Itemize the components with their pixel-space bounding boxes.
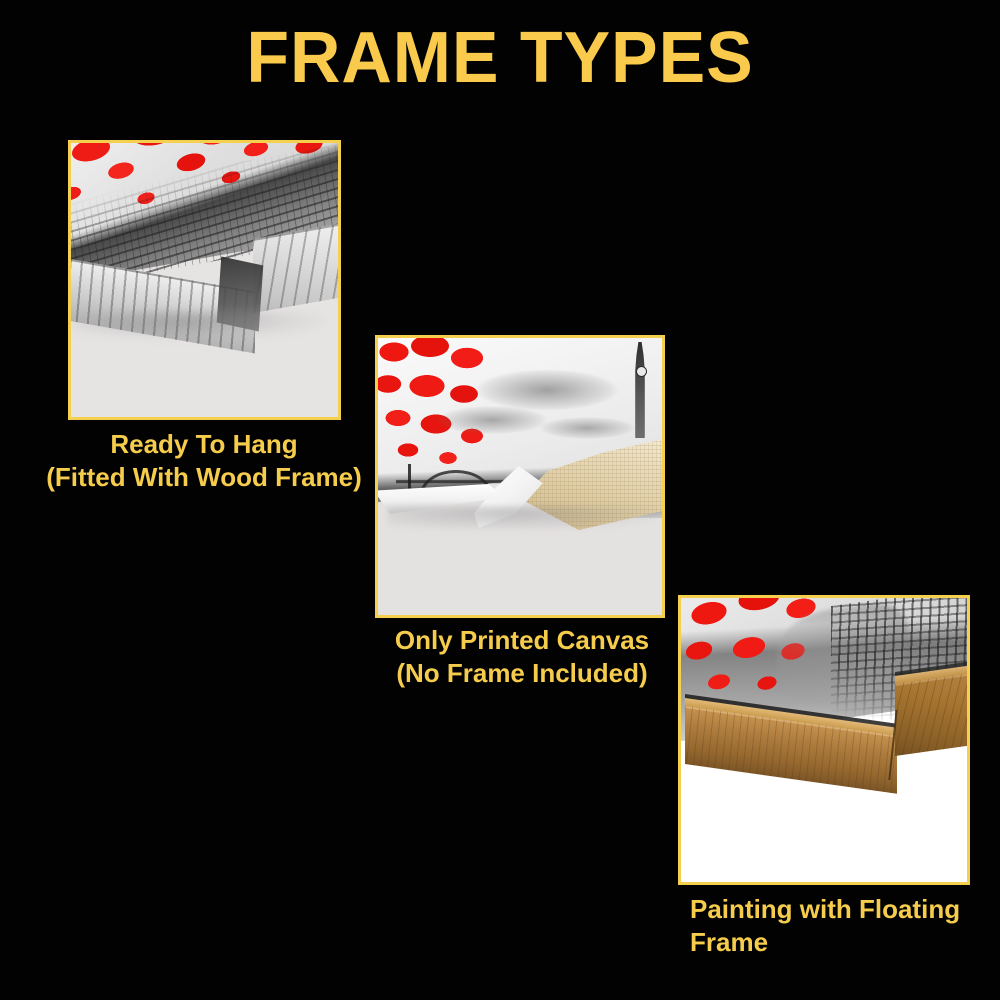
panel-painting-with-floating-frame[interactable] [678,595,970,885]
canvas-drop-shadow [388,506,656,530]
panel-only-printed-canvas[interactable] [375,335,665,618]
caption-painting-with-floating-frame: Painting with Floating Frame [690,893,1000,959]
canvas-drop-shadow [73,311,323,339]
clock-face-icon [636,366,647,377]
floating-frame-illustration [681,598,967,882]
rolled-canvas-illustration [378,338,662,615]
caption-ready-to-hang: Ready To Hang (Fitted With Wood Frame) [14,428,394,494]
caption-only-printed-canvas: Only Printed Canvas (No Frame Included) [352,624,692,690]
canvas-wrapped-corner-illustration [68,140,341,340]
panel-ready-to-hang[interactable] [68,140,341,420]
page-title: FRAME TYPES [15,20,985,96]
wood-grain-right [895,671,970,756]
